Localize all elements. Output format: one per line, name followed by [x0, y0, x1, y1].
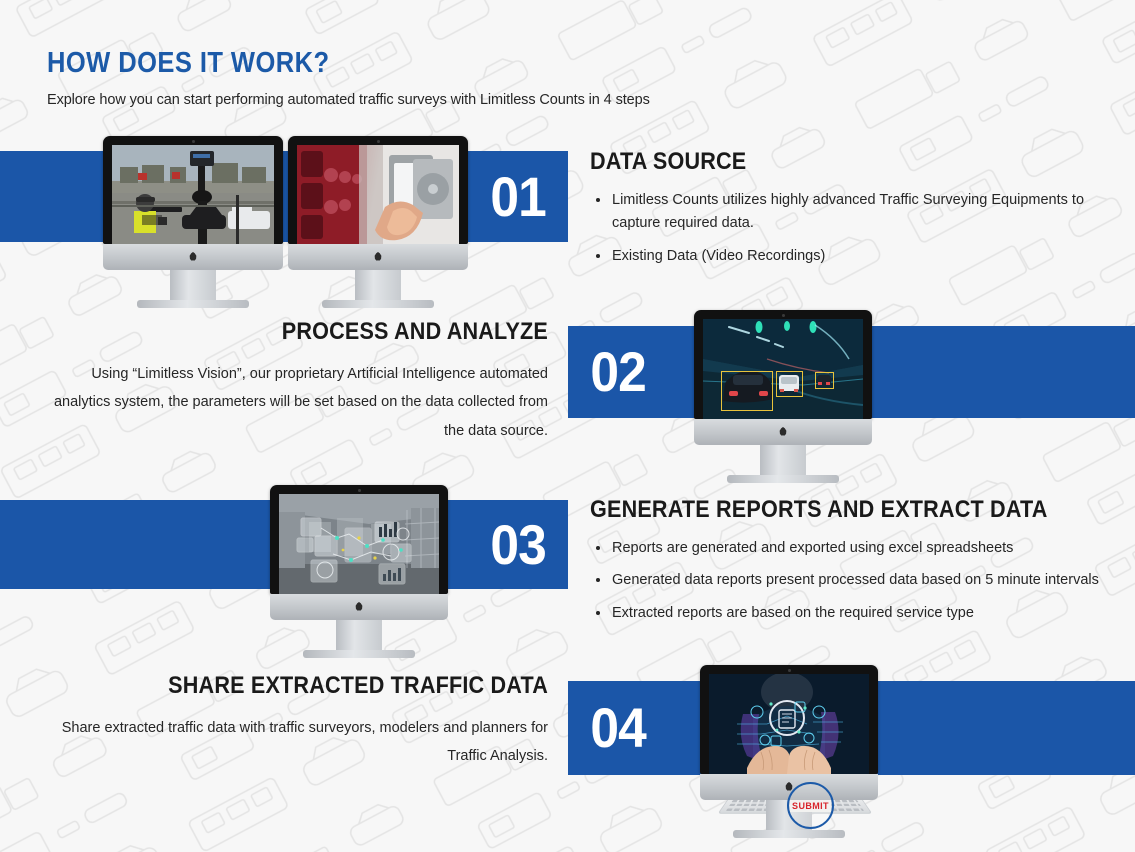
imac-chin [270, 594, 448, 620]
list-item: Generated data reports present processed… [590, 569, 1110, 592]
step-1-heading: DATA SOURCE [590, 148, 1049, 176]
step-4-text-block: SHARE EXTRACTED TRAFFIC DATA Share extra… [40, 672, 548, 771]
list-item: Reports are generated and exported using… [590, 537, 1110, 560]
step-1-bullets: Limitless Counts utilizes highly advance… [590, 189, 1100, 268]
detection-box-van [776, 371, 803, 397]
imac-chin [103, 244, 283, 270]
step-3-screen [279, 494, 439, 594]
imac-camera-icon [788, 669, 791, 672]
tunnel-vehicle-detection-photo [703, 319, 863, 419]
step-1-number: 01 [490, 169, 545, 225]
imac-foot [137, 300, 249, 308]
hard-drives-server-photo [297, 145, 459, 244]
list-item: Extracted reports are based on the requi… [590, 602, 1110, 625]
step-2-number: 02 [590, 344, 645, 400]
detection-box-car-2 [815, 372, 834, 389]
imac-neck [760, 445, 806, 475]
imac-neck [170, 270, 216, 300]
step-1-text-block: DATA SOURCE Limitless Counts utilizes hi… [590, 148, 1100, 277]
step-1-imac-left [103, 136, 283, 308]
imac-chin [694, 419, 872, 445]
traffic-surveyor-street-photo [112, 145, 274, 244]
step-2-paragraph: Using “Limitless Vision”, our proprietar… [40, 360, 548, 445]
step-4-screen [709, 674, 869, 774]
submit-stamp: SUBMIT [787, 782, 834, 829]
imac-foot [322, 300, 434, 308]
step-3-bullets: Reports are generated and exported using… [590, 537, 1110, 625]
imac-foot [727, 475, 839, 483]
step-1-imac-right [288, 136, 468, 308]
imac-chin [288, 244, 468, 270]
imac-neck [336, 620, 382, 650]
step-4-number: 04 [590, 700, 645, 756]
imac-bezel [288, 136, 468, 244]
step-1-screen-b [297, 145, 459, 244]
imac-foot [733, 830, 845, 838]
imac-camera-icon [358, 489, 361, 492]
step-3-imac [270, 485, 448, 658]
imac-camera-icon [192, 140, 195, 143]
detection-box-car-1 [721, 371, 774, 411]
list-item: Limitless Counts utilizes highly advance… [590, 189, 1100, 236]
hands-hologram-network-photo [709, 674, 869, 774]
imac-camera-icon [782, 314, 785, 317]
step-3-heading: GENERATE REPORTS AND EXTRACT DATA [590, 496, 1058, 524]
step-3-text-block: GENERATE REPORTS AND EXTRACT DATA Report… [590, 496, 1110, 634]
warehouse-data-analytics-photo [279, 494, 439, 594]
step-2-imac [694, 310, 872, 483]
step-1-screen-a [112, 145, 274, 244]
step-2-text-block: PROCESS AND ANALYZE Using “Limitless Vis… [40, 318, 548, 445]
imac-neck [355, 270, 401, 300]
imac-camera-icon [377, 140, 380, 143]
step-1-blue-bar [0, 151, 568, 242]
imac-bezel [103, 136, 283, 244]
step-4-paragraph: Share extracted traffic data with traffi… [40, 714, 548, 771]
page-subtitle: Explore how you can start performing aut… [47, 92, 650, 108]
imac-bezel [270, 485, 448, 594]
step-2-screen [703, 319, 863, 419]
list-item: Existing Data (Video Recordings) [590, 245, 1100, 268]
step-3-number: 03 [490, 517, 545, 573]
submit-stamp-label: SUBMIT [790, 800, 831, 812]
page-title: HOW DOES IT WORK? [47, 47, 330, 80]
imac-bezel [700, 665, 878, 774]
step-4-heading: SHARE EXTRACTED TRAFFIC DATA [91, 672, 548, 700]
imac-bezel [694, 310, 872, 419]
step-2-heading: PROCESS AND ANALYZE [91, 318, 548, 346]
imac-foot [303, 650, 415, 658]
